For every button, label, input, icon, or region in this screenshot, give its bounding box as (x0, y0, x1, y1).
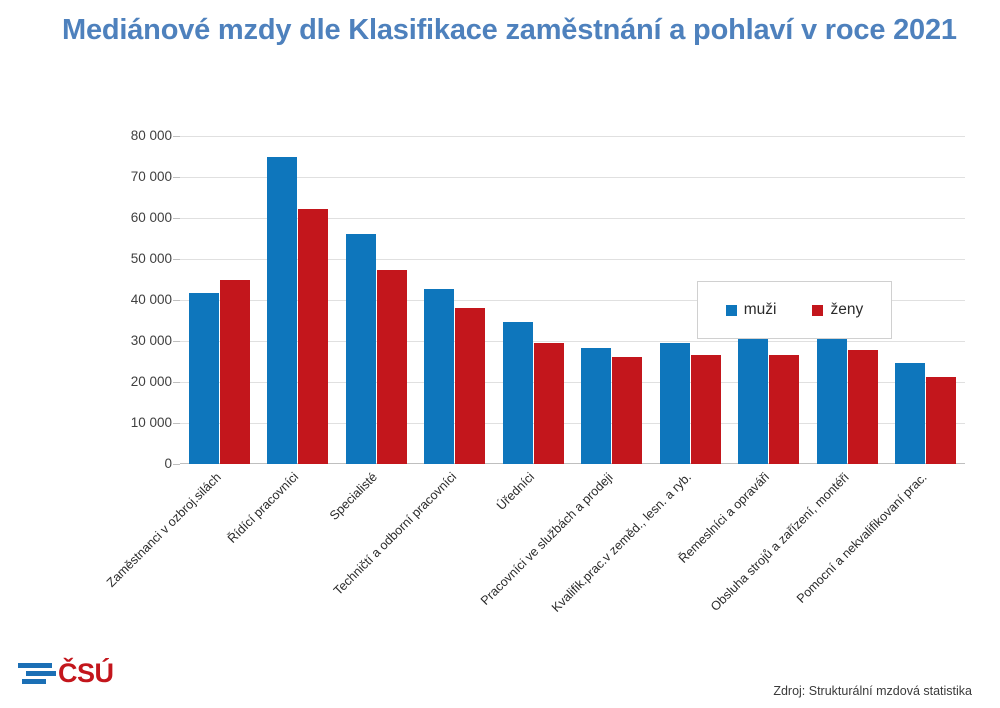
legend-item-zeny: ženy (812, 301, 863, 319)
csu-logo: ČSÚ (18, 658, 114, 688)
x-tick-label: Řídící pracovníci (225, 470, 301, 546)
bar-zeny[interactable] (848, 350, 878, 464)
y-tick-mark (173, 136, 180, 137)
y-tick-mark (173, 218, 180, 219)
x-tick-label: Pracovníci ve službách a prodeji (478, 470, 616, 608)
chart-legend: muži ženy (697, 281, 892, 339)
x-axis-labels: Zaměstnanci v ozbroj.siláchŘídící pracov… (180, 470, 965, 471)
y-tick-label: 20 000 (22, 374, 172, 389)
y-tick-mark (173, 341, 180, 342)
bar-group (887, 136, 966, 464)
bar-muzi[interactable] (346, 234, 376, 464)
x-tick-label: Kvalifik.prac.v zeměd., lesn. a ryb. (549, 470, 694, 615)
y-tick-mark (173, 382, 180, 383)
legend-item-muzi: muži (726, 301, 777, 319)
page-title: Mediánové mzdy dle Klasifikace zaměstnán… (62, 12, 962, 49)
bar-muzi[interactable] (738, 327, 768, 464)
y-tick-label: 30 000 (22, 333, 172, 348)
x-tick-label: Pomocní a nekvalifikovaní prac. (794, 470, 930, 606)
y-tick-label: 50 000 (22, 251, 172, 266)
bar-group (180, 136, 259, 464)
y-tick-label: 10 000 (22, 415, 172, 430)
bar-group (337, 136, 416, 464)
y-tick-label: 60 000 (22, 210, 172, 225)
legend-label-muzi: muži (744, 301, 777, 319)
bar-group (573, 136, 652, 464)
source-note: Zdroj: Strukturální mzdová statistika (773, 684, 972, 698)
bar-zeny[interactable] (926, 377, 956, 464)
x-tick-label: Zaměstnanci v ozbroj.silách (104, 470, 224, 590)
y-tick-mark (173, 177, 180, 178)
x-tick-label: Úředníci (494, 470, 537, 513)
bar-zeny[interactable] (534, 343, 564, 464)
y-tick-label: 80 000 (22, 128, 172, 143)
csu-logo-bars-icon (18, 658, 56, 688)
bar-group (259, 136, 338, 464)
bar-zeny[interactable] (691, 355, 721, 464)
y-tick-mark (173, 423, 180, 424)
bar-muzi[interactable] (189, 293, 219, 464)
y-tick-mark (173, 464, 180, 465)
y-tick-label: 70 000 (22, 169, 172, 184)
bar-muzi[interactable] (895, 363, 925, 464)
bar-zeny[interactable] (377, 270, 407, 464)
bar-muzi[interactable] (267, 157, 297, 464)
chart-canvas: hrubá mzda v Kč 80 00070 00060 00050 000… (0, 126, 1000, 476)
csu-logo-text: ČSÚ (58, 660, 114, 687)
y-tick-mark (173, 259, 180, 260)
bar-zeny[interactable] (220, 280, 250, 464)
x-tick-label: Obsluha strojů a zařízení, montéři (708, 470, 852, 614)
bar-muzi[interactable] (581, 348, 611, 464)
legend-label-zeny: ženy (830, 301, 863, 319)
y-tick-mark (173, 300, 180, 301)
y-tick-label: 0 (22, 456, 172, 471)
bar-muzi[interactable] (424, 289, 454, 464)
bar-group (494, 136, 573, 464)
bar-zeny[interactable] (298, 209, 328, 464)
bar-zeny[interactable] (769, 355, 799, 464)
bar-group (416, 136, 495, 464)
bar-zeny[interactable] (612, 357, 642, 464)
chart-page: Mediánové mzdy dle Klasifikace zaměstnán… (0, 0, 1000, 708)
bar-zeny[interactable] (455, 308, 485, 464)
x-tick-label: Řemeslníci a opraváři (676, 470, 772, 566)
legend-swatch-zeny (812, 305, 823, 316)
bar-muzi[interactable] (817, 329, 847, 464)
y-tick-label: 40 000 (22, 292, 172, 307)
bar-muzi[interactable] (503, 322, 533, 464)
x-tick-label: Specialisté (327, 470, 380, 523)
legend-swatch-muzi (726, 305, 737, 316)
bar-muzi[interactable] (660, 343, 690, 464)
